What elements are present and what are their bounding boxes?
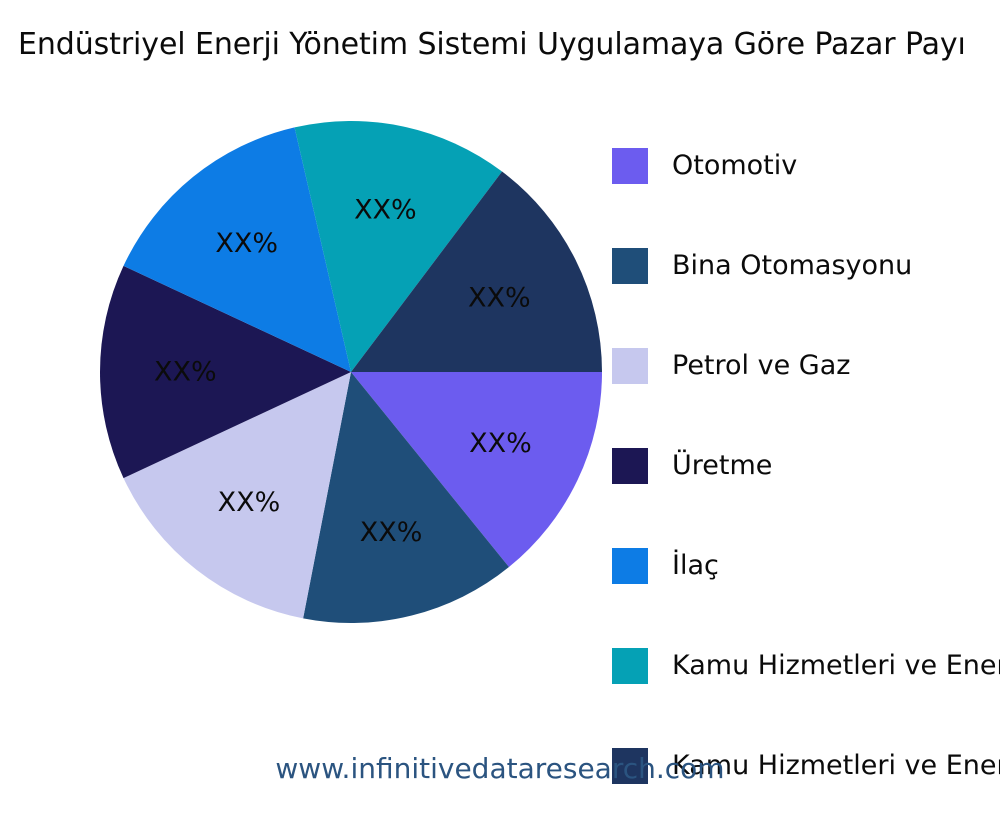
legend-item-label: Petrol ve Gaz [672,349,850,383]
legend-color-swatch [612,548,648,584]
legend-item-label: Bina Otomasyonu [672,249,912,283]
pie-slice-label: XX% [218,487,281,518]
page-title: Endüstriyel Enerji Yönetim Sistemi Uygul… [18,24,1000,66]
legend-item[interactable]: Üretme [612,416,1000,516]
pie-chart-figure: Endüstriyel Enerji Yönetim Sistemi Uygul… [0,0,1000,800]
watermark-url: www.infinitivedataresearch.com [0,752,1000,785]
pie-slice-label: XX% [468,283,531,314]
pie-slice-label: XX% [154,357,217,388]
chart-legend: OtomotivBina OtomasyonuPetrol ve GazÜret… [612,116,1000,816]
legend-color-swatch [612,648,648,684]
legend-item-label: Otomotiv [672,149,797,183]
legend-color-swatch [612,348,648,384]
legend-item[interactable]: Bina Otomasyonu [612,216,1000,316]
legend-item[interactable]: Otomotiv [612,116,1000,216]
legend-item-label: Kamu Hizmetleri ve Enerji [672,649,1000,683]
legend-item[interactable]: Kamu Hizmetleri ve Enerji [612,616,1000,716]
pie-slice-label: XX% [354,195,417,226]
pie-slice-label: XX% [469,428,532,459]
legend-item[interactable]: Petrol ve Gaz [612,316,1000,416]
legend-color-swatch [612,448,648,484]
legend-color-swatch [612,148,648,184]
pie-slice-label: XX% [215,228,278,259]
legend-color-swatch [612,248,648,284]
pie-chart-canvas: XX%XX%XX%XX%XX%XX%XX% [100,121,602,623]
legend-item[interactable]: İlaç [612,516,1000,616]
pie-svg: XX%XX%XX%XX%XX%XX%XX% [100,121,602,623]
pie-slice-label: XX% [360,517,423,548]
legend-item-label: Üretme [672,449,772,483]
legend-item-label: İlaç [672,549,719,583]
